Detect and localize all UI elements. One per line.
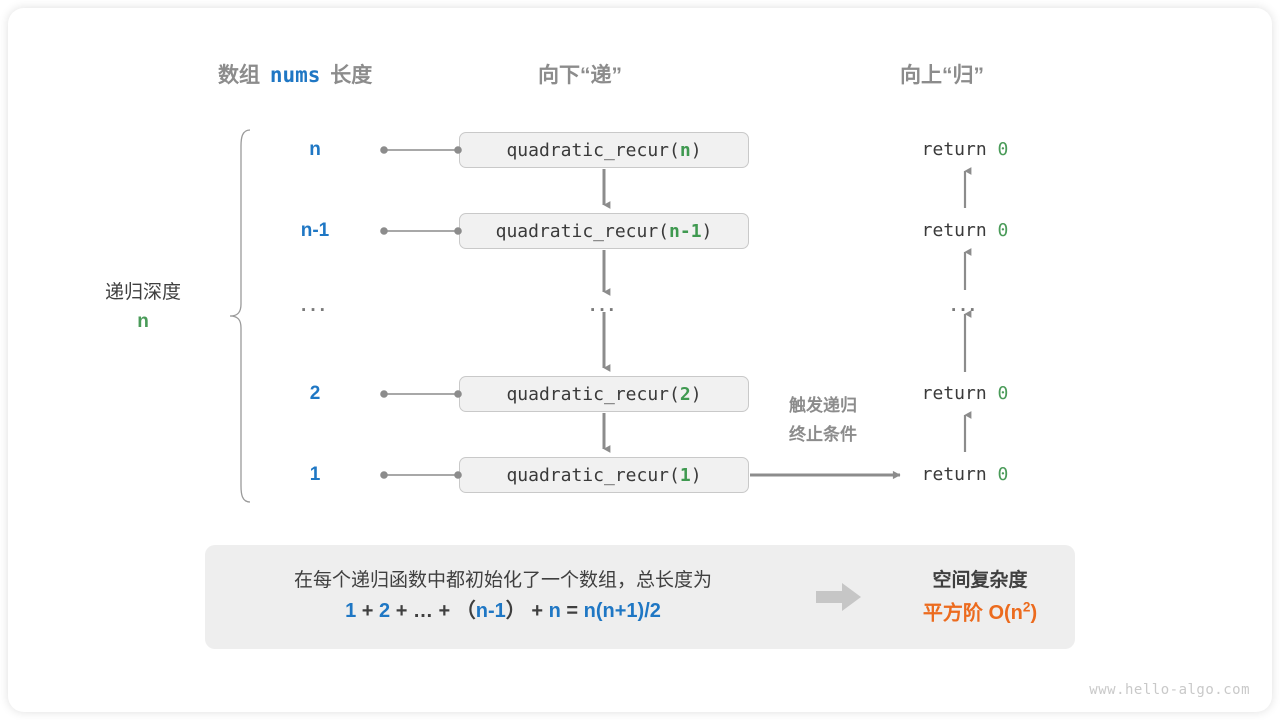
call-close: ) [702,221,713,242]
formula-b: 2 [379,600,390,622]
complexity-base: O(n [988,602,1022,624]
space-complexity-title: 空间复杂度 [885,565,1075,597]
formula-result: n(n+1)/2 [584,600,661,622]
call-arg: 2 [680,384,691,405]
return-keyword: return [922,220,987,241]
depth-value-row-4: 1 [270,464,360,486]
formula-eq: = [566,600,578,622]
depth-value-row-3: 2 [270,383,360,405]
header-ascend: 向上“归” [900,59,984,89]
call-text: quadratic_recur( [506,384,679,405]
formula-op1: + [362,600,374,622]
summary-left: 在每个递归函数中都初始化了一个数组，总长度为 1 + 2 + … + （n-1）… [205,567,793,628]
call-text: quadratic_recur( [506,465,679,486]
formula-op3: + [439,600,451,622]
header-array-suffix: 长度 [330,64,372,87]
complexity-close: ) [1030,602,1037,624]
call-close: ) [691,384,702,405]
recursion-depth-title: 递归深度 [78,278,208,307]
formula-op4: + [531,600,543,622]
formula-d: n [549,600,561,622]
depth-brace-icon [228,128,256,504]
return-row-0: return 0 [875,139,1055,160]
recursion-depth-label: 递归深度 n [78,278,208,337]
depth-value-row-2: ··· [270,300,360,322]
summary-description: 在每个递归函数中都初始化了一个数组，总长度为 [213,567,793,596]
call-close: ) [691,465,702,486]
return-row-3: return 0 [875,383,1055,404]
call-arg: n-1 [669,221,702,242]
recursion-depth-value: n [78,307,208,336]
space-complexity-value: 平方阶 O(n2) [885,597,1075,630]
call-box-row-3[interactable]: quadratic_recur(2) [459,376,749,412]
depth-value-row-1: n-1 [270,220,360,242]
formula-op2: + [396,600,408,622]
depth-value-row-0: n [270,139,360,161]
header-array-code: nums [270,63,321,87]
call-text: quadratic_recur( [506,140,679,161]
complexity-notation: O(n2) [988,602,1037,624]
return-dots-row-2: ··· [875,300,1055,322]
header-descend: 向下“递” [538,59,622,89]
call-box-row-4[interactable]: quadratic_recur(1) [459,457,749,493]
call-arg: 1 [680,465,691,486]
return-value: 0 [998,464,1009,485]
return-value: 0 [998,139,1009,160]
termination-note-line2: 终止条件 [757,421,889,450]
summary-arrow [793,582,885,612]
return-keyword: return [922,383,987,404]
formula-dots: … [413,600,433,622]
watermark: www.hello-algo.com [1089,682,1250,698]
call-box-row-0[interactable]: quadratic_recur(n) [459,132,749,168]
summary-formula: 1 + 2 + … + （n-1） + n = n(n+1)/2 [213,595,793,627]
diagram-canvas: 数组 nums 长度 向下“递” 向上“归” 递归深度 n n n-1 ··· … [0,0,1280,720]
call-text: quadratic_recur( [496,221,669,242]
call-arg: n [680,140,691,161]
summary-right: 空间复杂度 平方阶 O(n2) [885,565,1075,630]
right-arrow-icon [816,582,862,612]
formula-paren-close: ） [506,600,526,622]
return-value: 0 [998,383,1009,404]
complexity-prefix: 平方阶 [923,602,983,624]
return-row-4: return 0 [875,464,1055,485]
formula-paren-open: （ [456,600,476,622]
call-box-row-1[interactable]: quadratic_recur(n-1) [459,213,749,249]
header-array-prefix: 数组 [218,64,260,87]
formula-a: 1 [345,600,356,622]
return-value: 0 [998,220,1009,241]
return-keyword: return [922,139,987,160]
formula-c: n-1 [476,600,506,622]
return-row-1: return 0 [875,220,1055,241]
header-array-length: 数组 nums 长度 [218,59,372,89]
termination-note-line1: 触发递归 [757,392,889,421]
summary-panel: 在每个递归函数中都初始化了一个数组，总长度为 1 + 2 + … + （n-1）… [205,545,1075,649]
call-dots-row-2: ··· [559,300,649,322]
return-keyword: return [922,464,987,485]
call-close: ) [691,140,702,161]
termination-note: 触发递归 终止条件 [757,392,889,450]
